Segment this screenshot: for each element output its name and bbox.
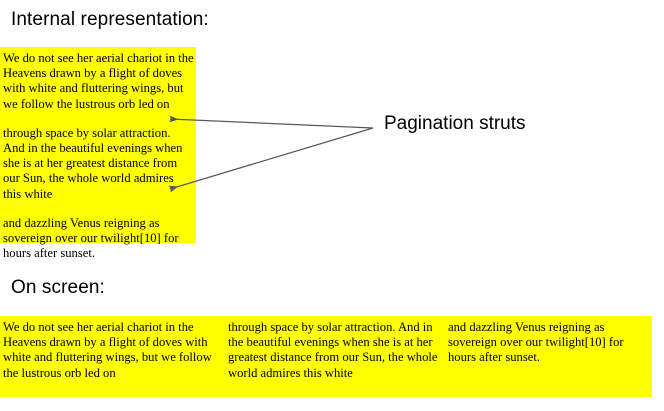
on-screen-column-1: We do not see her aerial chariot in the …: [3, 320, 218, 381]
internal-fragment-1: We do not see her aerial chariot in the …: [3, 51, 194, 112]
internal-representation-text-block: We do not see her aerial chariot in the …: [0, 47, 196, 243]
strut-arrow-top: [170, 119, 373, 128]
on-screen-column-2: through space by solar attraction. And i…: [228, 320, 440, 381]
page-title-internal-representation: Internal representation:: [11, 9, 209, 31]
internal-fragment-3: and dazzling Venus reigning as sovereign…: [3, 216, 194, 262]
pagination-struts-label: Pagination struts: [384, 113, 526, 135]
page-title-on-screen: On screen:: [11, 277, 105, 299]
on-screen-text-band: We do not see her aerial chariot in the …: [0, 316, 652, 397]
internal-fragment-2: through space by solar attraction. And i…: [3, 126, 194, 202]
on-screen-column-3: and dazzling Venus reigning as sovereign…: [448, 320, 648, 366]
strut-arrow-bottom: [170, 128, 373, 189]
